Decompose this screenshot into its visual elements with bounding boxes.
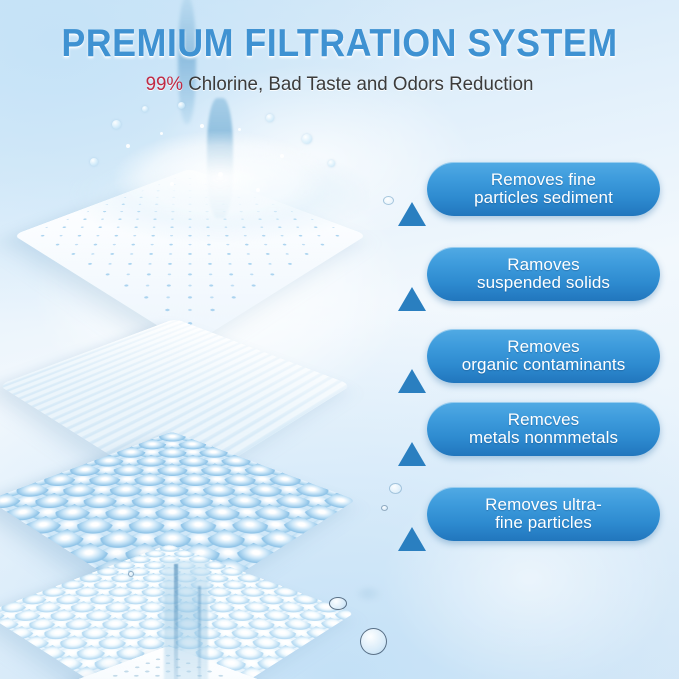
bubble-icon xyxy=(360,628,387,655)
callout-label: Removes organic contaminants xyxy=(456,338,632,375)
perforation-holes-icon xyxy=(0,652,338,679)
bubble-blur-icon xyxy=(357,588,381,600)
triangle-up-icon xyxy=(398,442,426,466)
callout-pill-2[interactable]: Ramoves suspended solids xyxy=(427,247,660,301)
callout-item-2[interactable]: Ramoves suspended solids xyxy=(392,235,679,319)
header: PREMIUM FILTRATION SYSTEM 99% Chlorine, … xyxy=(0,0,679,96)
callout-item-3[interactable]: Removes organic contaminants xyxy=(392,317,679,401)
splash-droplet xyxy=(142,106,148,112)
perforated-plate-surface xyxy=(0,646,358,679)
callout-item-5[interactable]: Removes ultra- fine particles xyxy=(392,475,679,559)
filter-layer-mesh-nonwoven-sheet xyxy=(0,160,390,310)
callout-pill-4[interactable]: Remcves metals nonmmetals xyxy=(427,402,660,456)
subtitle-percent: 99% xyxy=(146,73,183,95)
triangle-up-icon xyxy=(398,287,426,311)
splash-spray-speck xyxy=(126,144,130,148)
callout-pill-3[interactable]: Removes organic contaminants xyxy=(427,329,660,383)
triangle-up-icon xyxy=(398,202,426,226)
filter-layer-stack xyxy=(0,150,410,620)
splash-spray-speck xyxy=(200,124,204,128)
splash-droplet xyxy=(302,134,312,144)
splash-droplet xyxy=(112,120,121,129)
triangle-up-icon xyxy=(398,527,426,551)
page-subtitle: 99% Chlorine, Bad Taste and Odors Reduct… xyxy=(14,73,666,96)
callout-label: Ramoves suspended solids xyxy=(471,256,616,293)
filtration-infographic: PREMIUM FILTRATION SYSTEM 99% Chlorine, … xyxy=(0,0,679,679)
splash-spray-speck xyxy=(238,128,241,131)
callout-pill-5[interactable]: Removes ultra- fine particles xyxy=(427,487,660,541)
callout-item-4[interactable]: Remcves metals nonmmetals xyxy=(392,390,679,474)
splash-spray-speck xyxy=(160,132,163,135)
subtitle-text: Chlorine, Bad Taste and Odors Reduction xyxy=(183,73,533,95)
callout-list: Removes fine particles sediment Ramoves … xyxy=(392,150,679,570)
bubble-icon xyxy=(381,505,388,511)
page-title: PREMIUM FILTRATION SYSTEM xyxy=(27,22,652,66)
callout-label: Removes ultra- fine particles xyxy=(479,496,608,533)
callout-label: Remcves metals nonmmetals xyxy=(463,411,624,448)
splash-droplet xyxy=(266,114,274,122)
callout-item-1[interactable]: Removes fine particles sediment xyxy=(392,150,679,234)
bubble-icon xyxy=(329,597,347,610)
callout-label: Removes fine particles sediment xyxy=(468,171,619,208)
callout-pill-1[interactable]: Removes fine particles sediment xyxy=(427,162,660,216)
bubble-icon xyxy=(128,571,134,577)
filter-layer-perforated-base-plate xyxy=(0,600,390,679)
